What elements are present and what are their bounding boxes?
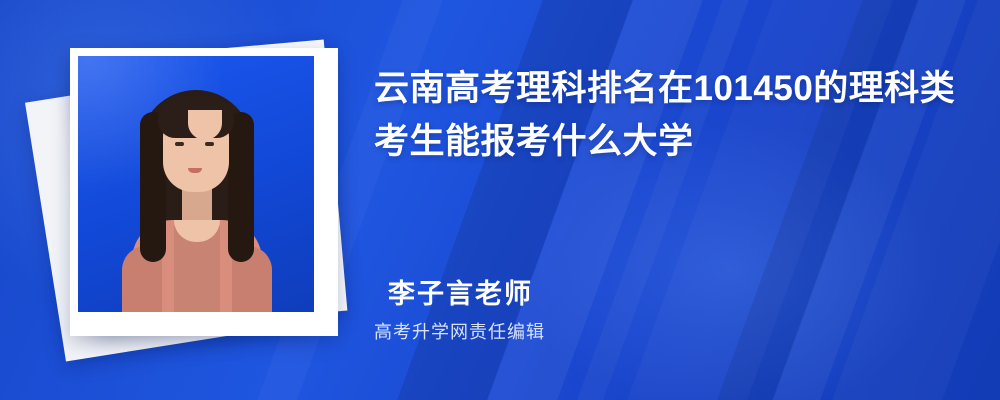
article-headline: 云南高考理科排名在101450的理科类考生能报考什么大学	[374, 62, 964, 168]
photo-card-front	[70, 48, 338, 336]
background-streak-2	[555, 0, 770, 400]
portrait-fringe	[158, 96, 234, 138]
article-cover-banner: 云南高考理科排名在101450的理科类考生能报考什么大学 李子言老师 高考升学网…	[0, 0, 1000, 400]
background-streak-dark-2	[695, 0, 940, 400]
author-role: 高考升学网责任编辑	[374, 318, 545, 344]
portrait-hair-right	[228, 112, 254, 262]
portrait-eye-right	[205, 142, 214, 146]
background-streak-3	[605, 0, 914, 400]
portrait-eye-left	[175, 142, 184, 146]
background-streak-5	[810, 0, 1000, 400]
author-portrait-photo	[78, 56, 314, 312]
photo-card-stack	[40, 36, 360, 366]
author-name: 李子言老师	[388, 272, 533, 311]
headline-block: 云南高考理科排名在101450的理科类考生能报考什么大学	[374, 62, 964, 168]
author-name-row: 李子言老师	[388, 272, 533, 311]
background-streak-4	[750, 0, 987, 400]
